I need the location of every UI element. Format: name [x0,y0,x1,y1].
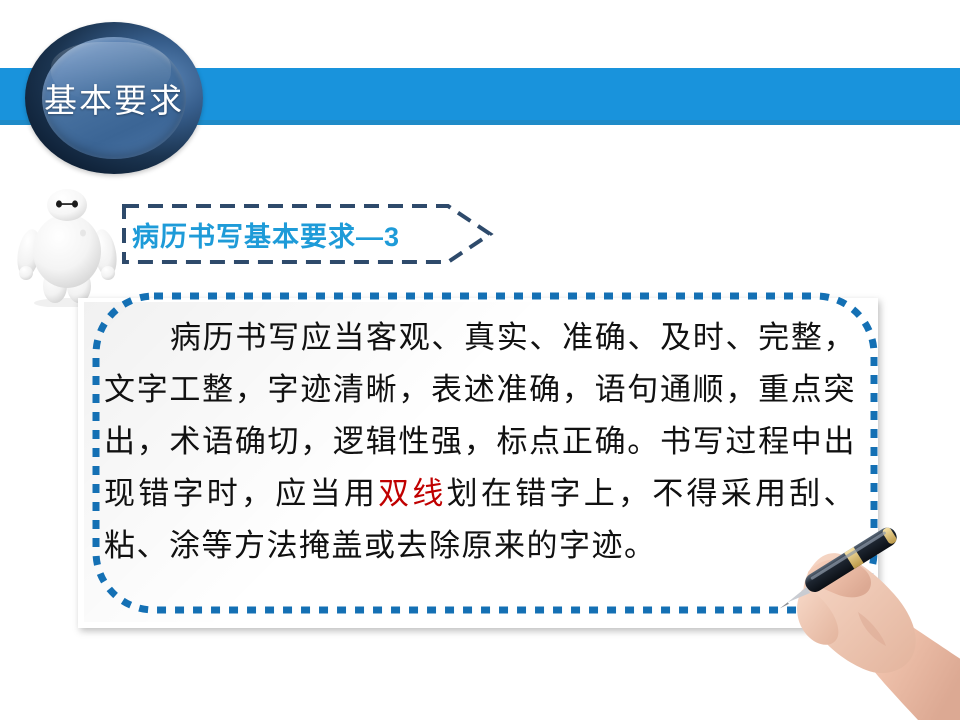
slide-canvas: 基本要求 [0,0,960,720]
badge-label: 基本要求 [25,22,203,174]
subtitle-label: 病历书写基本要求—3 [132,214,400,254]
body-paragraph: 病历书写应当客观、真实、准确、及时、完整，文字工整，字迹清晰，表述准确，语句通顺… [104,312,856,572]
section-badge: 基本要求 [25,22,203,174]
hand-with-pen-icon [762,494,960,720]
baymax-mascot-icon [8,185,126,307]
body-text-highlight: 双线 [378,476,447,511]
